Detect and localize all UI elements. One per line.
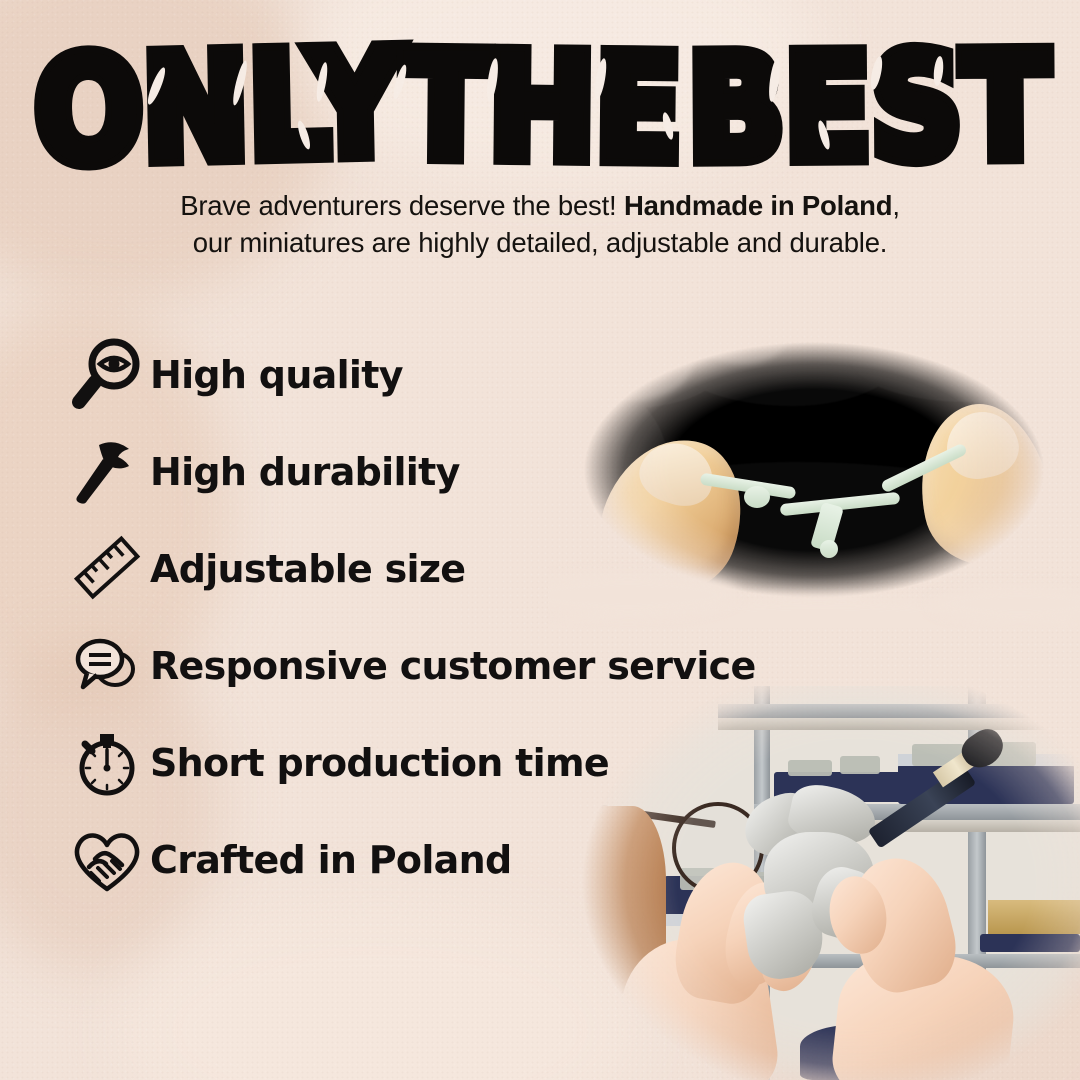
- headline-word: THE: [402, 34, 682, 183]
- subheading-emphasis: Handmade in Poland: [624, 190, 892, 221]
- feature-label: Responsive customer service: [150, 644, 756, 688]
- infographic-page: ONLY THE BEST Brave adventurers deserve …: [0, 0, 1080, 1080]
- feature-label: High durability: [150, 450, 460, 494]
- subheading-lead: Brave adventurers deserve the best!: [180, 190, 616, 221]
- feature-item-responsive-customer-service: Responsive customer service: [64, 617, 804, 714]
- magnifier-eye-icon: [64, 336, 150, 414]
- feature-label: Adjustable size: [150, 547, 465, 591]
- feature-item-adjustable-size: Adjustable size: [64, 520, 804, 617]
- stopwatch-icon: [64, 724, 150, 802]
- feature-label: Short production time: [150, 741, 609, 785]
- feature-label: High quality: [150, 353, 403, 397]
- headline-word: ONLY: [33, 32, 402, 187]
- feature-item-crafted-in-poland: Crafted in Poland: [64, 811, 804, 908]
- handshake-heart-icon: [64, 821, 150, 899]
- background-wash: [120, 900, 640, 1080]
- subheading-line2: our miniatures are highly detailed, adju…: [193, 227, 888, 258]
- page-title: ONLY THE BEST: [0, 36, 1080, 164]
- feature-item-high-durability: High durability: [64, 423, 804, 520]
- subheading-tail: ,: [892, 190, 899, 221]
- feature-item-high-quality: High quality: [64, 326, 804, 423]
- speech-bubbles-icon: [64, 627, 150, 705]
- feature-list: High quality High durability Adj: [64, 326, 804, 908]
- ruler-icon: [64, 530, 150, 608]
- feature-label: Crafted in Poland: [150, 838, 511, 882]
- subheading: Brave adventurers deserve the best! Hand…: [60, 188, 1020, 262]
- hammer-icon: [64, 433, 150, 511]
- feature-item-short-production-time: Short production time: [64, 714, 804, 811]
- headline-word: BEST: [687, 35, 1048, 184]
